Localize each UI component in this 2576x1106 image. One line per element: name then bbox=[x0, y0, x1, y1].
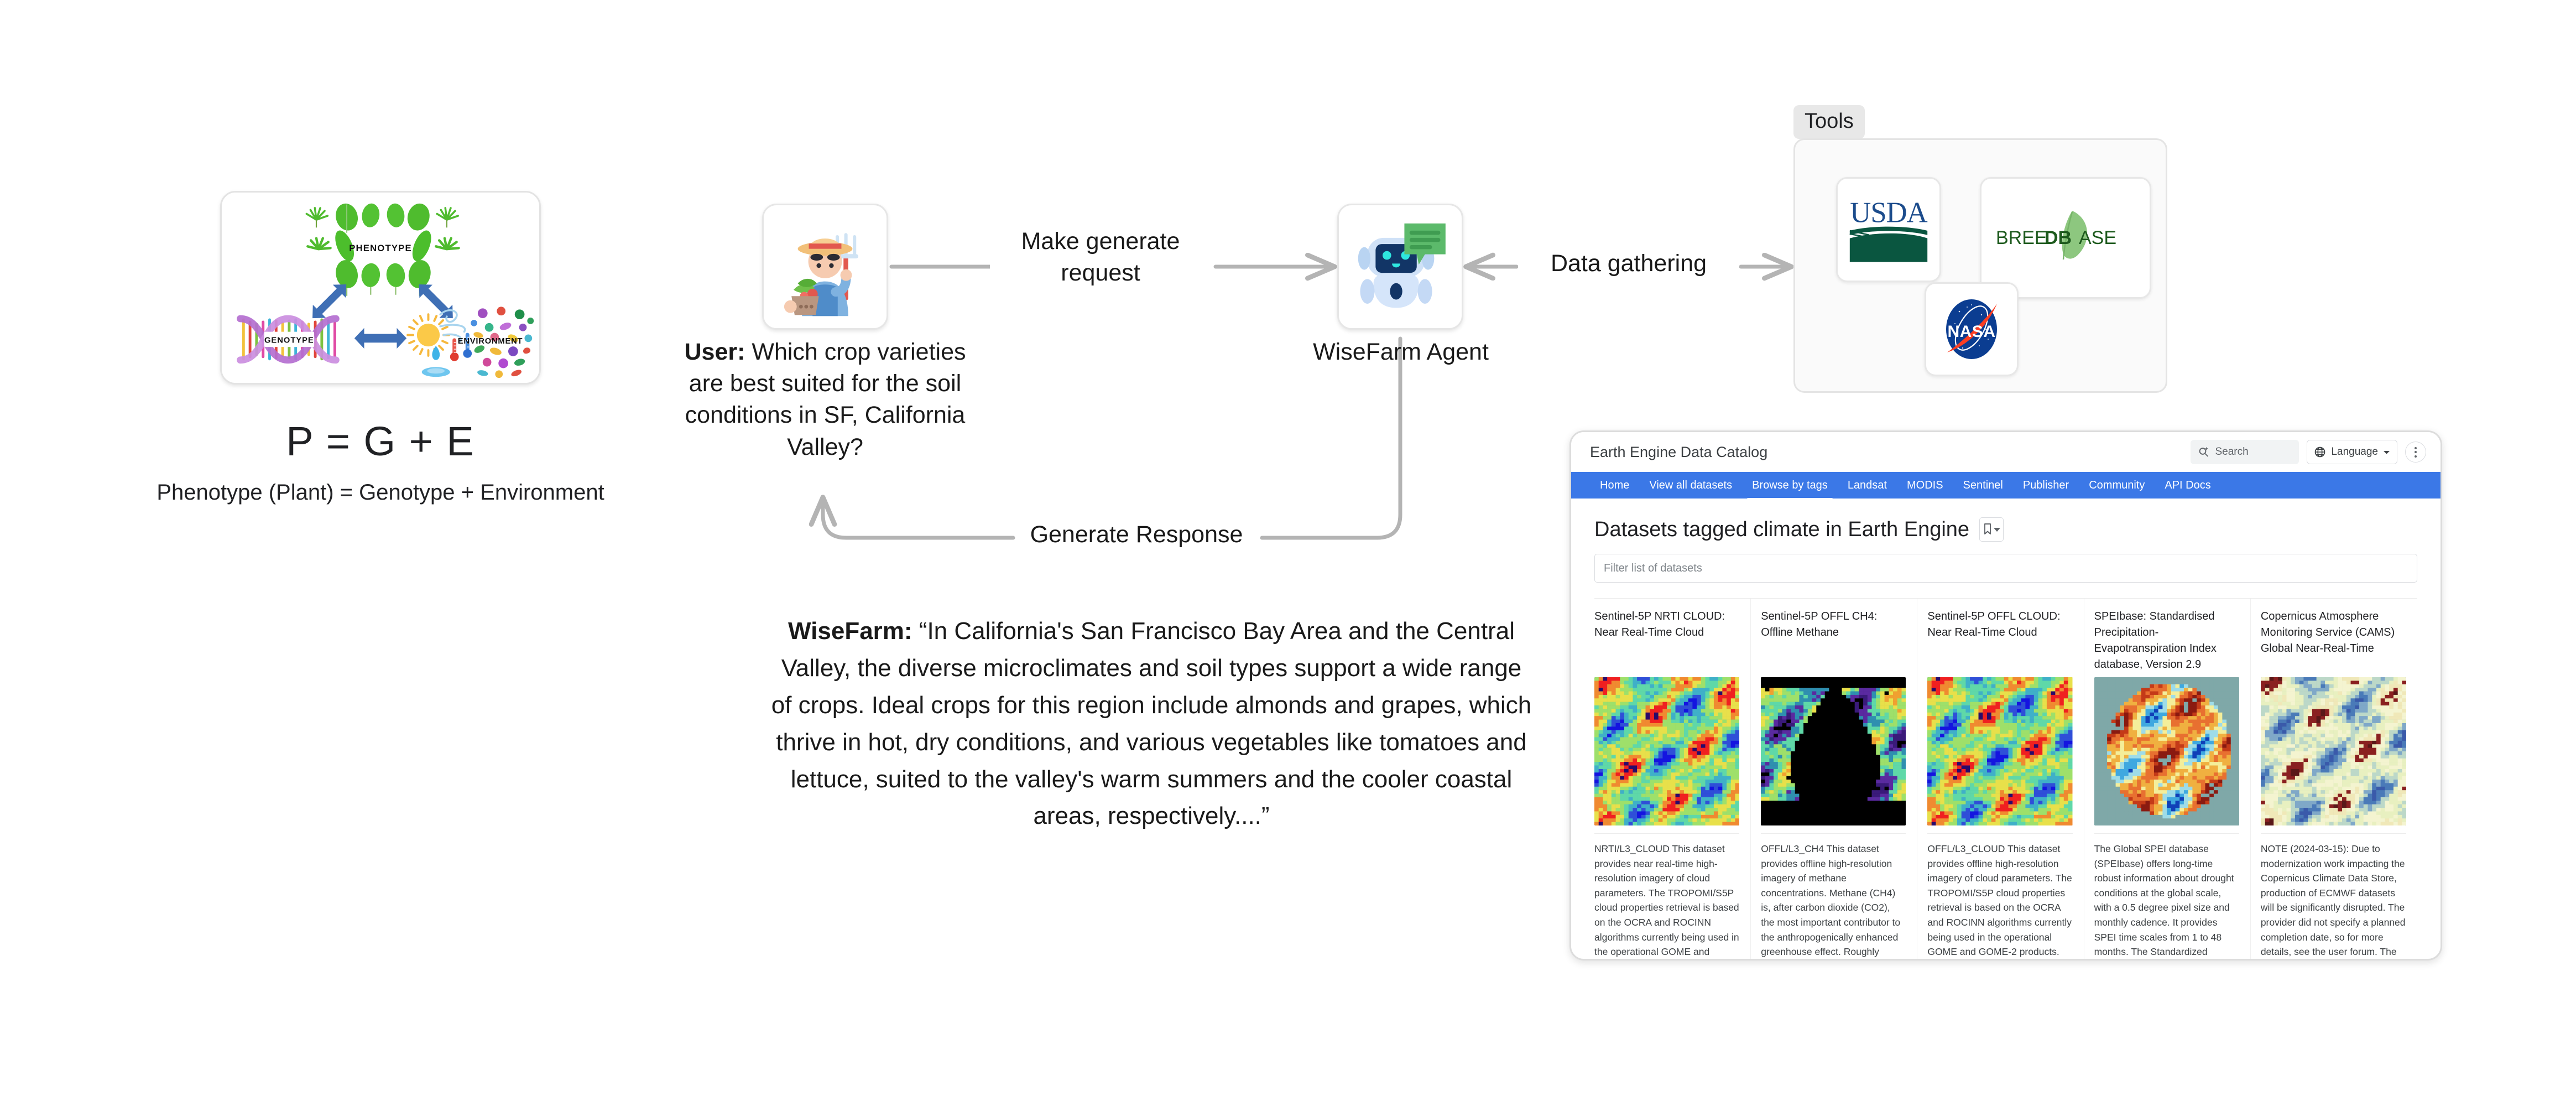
tool-card-usda[interactable]: USDA bbox=[1836, 177, 1941, 282]
farmer-icon bbox=[773, 214, 878, 319]
connector-label-data-gathering: Data gathering bbox=[1518, 248, 1739, 279]
dataset-card[interactable]: Sentinel-5P NRTI CLOUD: Near Real-Time C… bbox=[1594, 599, 1751, 960]
ee-nav-item-modis[interactable]: MODIS bbox=[1897, 472, 1953, 499]
svg-text:NASA: NASA bbox=[1947, 323, 1995, 341]
dataset-thumbnail bbox=[1927, 677, 2072, 825]
ee-nav-item-landsat[interactable]: Landsat bbox=[1838, 472, 1897, 499]
dataset-description: NRTI/L3_CLOUD This dataset provides near… bbox=[1594, 833, 1739, 960]
ee-search-placeholder: Search bbox=[2215, 446, 2248, 458]
filter-placeholder: Filter list of datasets bbox=[1604, 562, 1702, 575]
agent-node[interactable] bbox=[1337, 204, 1463, 330]
ee-nav-item-view-all-datasets[interactable]: View all datasets bbox=[1639, 472, 1742, 499]
svg-text:DB: DB bbox=[2045, 227, 2072, 248]
user-label: User: bbox=[684, 339, 745, 365]
bookmark-icon bbox=[1983, 523, 1994, 536]
svg-text:ASE: ASE bbox=[2079, 227, 2116, 248]
ee-app-title: Earth Engine Data Catalog bbox=[1590, 444, 1767, 461]
dataset-description: The Global SPEI database (SPEIbase) offe… bbox=[2094, 833, 2239, 960]
robot-chat-icon bbox=[1349, 215, 1452, 318]
ee-heading-row: Datasets tagged climate in Earth Engine bbox=[1594, 517, 2417, 542]
dataset-title[interactable]: SPEIbase: Standardised Precipitation-Eva… bbox=[2094, 609, 2239, 675]
phenotype-diagram-card: PHENOTYPE bbox=[220, 191, 541, 385]
dataset-title[interactable]: Sentinel-5P OFFL CH4: Offline Methane bbox=[1761, 609, 1906, 675]
svg-text:GENOTYPE: GENOTYPE bbox=[264, 336, 314, 345]
ee-nav-item-home[interactable]: Home bbox=[1590, 472, 1639, 499]
dataset-thumbnail bbox=[1761, 677, 1906, 825]
svg-text:PHENOTYPE: PHENOTYPE bbox=[349, 243, 412, 253]
page-title: Datasets tagged climate in Earth Engine bbox=[1594, 518, 1969, 542]
dataset-title[interactable]: Sentinel-5P OFFL CLOUD: Near Real-Time C… bbox=[1927, 609, 2072, 675]
dataset-description: NOTE (2024-03-15): Due to modernization … bbox=[2261, 833, 2406, 960]
dataset-title[interactable]: Sentinel-5P NRTI CLOUD: Near Real-Time C… bbox=[1594, 609, 1739, 675]
filter-input[interactable]: Filter list of datasets bbox=[1594, 554, 2417, 583]
dataset-grid: Sentinel-5P NRTI CLOUD: Near Real-Time C… bbox=[1594, 598, 2417, 960]
dataset-description: OFFL/L3_CH4 This dataset provides offlin… bbox=[1761, 833, 1906, 960]
bookmark-caret-icon bbox=[1994, 528, 2000, 532]
svg-text:USDA: USDA bbox=[1850, 196, 1927, 229]
agent-answer: WiseFarm: “In California's San Francisco… bbox=[770, 613, 1533, 835]
ee-search-box[interactable]: Search bbox=[2191, 440, 2299, 464]
tool-card-nasa[interactable]: NASA bbox=[1925, 282, 2019, 376]
svg-text:ENVIRONMENT: ENVIRONMENT bbox=[458, 337, 523, 346]
dataset-thumbnail bbox=[2094, 677, 2239, 825]
dataset-card[interactable]: Sentinel-5P OFFL CLOUD: Near Real-Time C… bbox=[1927, 599, 2084, 960]
search-icon bbox=[2198, 446, 2209, 458]
diagram-canvas: PHENOTYPE bbox=[0, 0, 2576, 1106]
svg-text:BREE: BREE bbox=[1996, 227, 2047, 248]
dataset-card[interactable]: SPEIbase: Standardised Precipitation-Eva… bbox=[2094, 599, 2251, 960]
globe-icon bbox=[2314, 446, 2326, 458]
chevron-down-icon bbox=[2383, 450, 2390, 455]
earth-engine-browser-panel[interactable]: Earth Engine Data Catalog Search bbox=[1569, 430, 2442, 960]
tools-group-tag: Tools bbox=[1793, 105, 1865, 139]
user-message: User: Which crop varieties are best suit… bbox=[676, 336, 974, 463]
ee-nav-item-publisher[interactable]: Publisher bbox=[2013, 472, 2079, 499]
ee-language-label: Language bbox=[2331, 446, 2378, 458]
dataset-thumbnail bbox=[1594, 677, 1739, 825]
ee-language-selector[interactable]: Language bbox=[2307, 440, 2397, 464]
more-options-icon[interactable] bbox=[2405, 442, 2426, 463]
agent-answer-label: WiseFarm: bbox=[788, 617, 912, 645]
ee-nav-item-sentinel[interactable]: Sentinel bbox=[1953, 472, 2013, 499]
dataset-thumbnail bbox=[2261, 677, 2406, 825]
pge-equation: P = G + E bbox=[220, 418, 541, 465]
tool-card-breedbase[interactable]: BREE DB ASE bbox=[1980, 177, 2151, 299]
ee-nav-item-community[interactable]: Community bbox=[2079, 472, 2155, 499]
ee-topbar: Earth Engine Data Catalog Search bbox=[1571, 432, 2441, 472]
ee-topbar-actions: Search Language bbox=[2191, 440, 2426, 464]
nasa-logo: NASA bbox=[1933, 290, 2010, 368]
connector-label-make-request: Make generate request bbox=[990, 226, 1211, 289]
ee-nav-item-api-docs[interactable]: API Docs bbox=[2155, 472, 2220, 499]
genotype-phenotype-environment-illustration: PHENOTYPE bbox=[222, 193, 539, 383]
pge-equation-caption: Phenotype (Plant) = Genotype + Environme… bbox=[132, 480, 629, 505]
bookmark-button[interactable] bbox=[1979, 517, 2004, 542]
dataset-card[interactable]: Copernicus Atmosphere Monitoring Service… bbox=[2261, 599, 2417, 960]
ee-nav-item-browse-by-tags[interactable]: Browse by tags bbox=[1742, 472, 1838, 499]
dataset-title[interactable]: Copernicus Atmosphere Monitoring Service… bbox=[2261, 609, 2406, 675]
dataset-card[interactable]: Sentinel-5P OFFL CH4: Offline MethaneOFF… bbox=[1761, 599, 1917, 960]
ee-nav-bar[interactable]: HomeView all datasetsBrowse by tagsLands… bbox=[1571, 472, 2441, 499]
agent-label: WiseFarm Agent bbox=[1310, 336, 1492, 368]
usda-logo: USDA bbox=[1845, 191, 1932, 268]
user-node[interactable] bbox=[762, 204, 888, 330]
breedbase-logo: BREE DB ASE bbox=[1989, 204, 2142, 272]
ee-content: Datasets tagged climate in Earth Engine … bbox=[1571, 499, 2441, 960]
connector-label-generate-response: Generate Response bbox=[1018, 519, 1255, 551]
dataset-description: OFFL/L3_CLOUD This dataset provides offl… bbox=[1927, 833, 2072, 960]
agent-answer-text: “In California's San Francisco Bay Area … bbox=[771, 617, 1532, 829]
